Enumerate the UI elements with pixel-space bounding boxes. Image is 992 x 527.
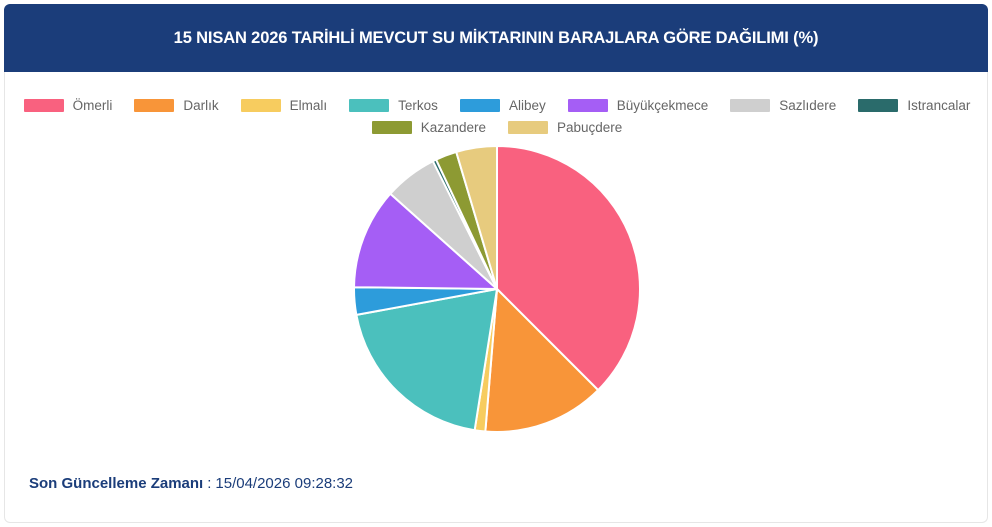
chart-legend: ÖmerliDarlıkElmalıTerkosAlibeyBüyükçekme… <box>5 98 989 135</box>
legend-item-pabu-dere[interactable]: Pabuçdere <box>508 120 622 135</box>
legend-row-2: KazanderePabuçdere <box>5 120 989 135</box>
legend-swatch-icon <box>241 99 281 112</box>
legend-item-b-y-k-ekmece[interactable]: Büyükçekmece <box>568 98 709 113</box>
last-update-value: 15/04/2026 09:28:32 <box>215 475 353 492</box>
legend-swatch-icon <box>568 99 608 112</box>
legend-item--merli[interactable]: Ömerli <box>24 98 113 113</box>
chart-area <box>5 144 989 444</box>
legend-item-label: Elmalı <box>290 98 328 113</box>
legend-swatch-icon <box>730 99 770 112</box>
chart-panel: ÖmerliDarlıkElmalıTerkosAlibeyBüyükçekme… <box>4 72 988 523</box>
page-title: 15 NISAN 2026 TARİHLİ MEVCUT SU MİKTARIN… <box>174 29 819 48</box>
legend-swatch-icon <box>858 99 898 112</box>
legend-item-label: Kazandere <box>421 120 486 135</box>
legend-item-alibey[interactable]: Alibey <box>460 98 546 113</box>
pie-chart-svg[interactable] <box>352 144 642 434</box>
legend-swatch-icon <box>134 99 174 112</box>
legend-item-label: Darlık <box>183 98 218 113</box>
dam-water-distribution-page: 15 NISAN 2026 TARİHLİ MEVCUT SU MİKTARIN… <box>0 0 992 527</box>
legend-item-label: Sazlıdere <box>779 98 836 113</box>
pie-chart <box>352 144 642 434</box>
legend-swatch-icon <box>508 121 548 134</box>
legend-item-darl-k[interactable]: Darlık <box>134 98 218 113</box>
last-update-row: Son Güncelleme Zamanı : 15/04/2026 09:28… <box>29 475 353 492</box>
legend-item-istrancalar[interactable]: Istrancalar <box>858 98 970 113</box>
legend-item-label: Büyükçekmece <box>617 98 709 113</box>
legend-item-label: Terkos <box>398 98 438 113</box>
legend-item-terkos[interactable]: Terkos <box>349 98 438 113</box>
last-update-separator: : <box>207 475 211 492</box>
legend-item-sazl-dere[interactable]: Sazlıdere <box>730 98 836 113</box>
legend-item-kazandere[interactable]: Kazandere <box>372 120 486 135</box>
legend-swatch-icon <box>372 121 412 134</box>
last-update-label: Son Güncelleme Zamanı <box>29 475 203 492</box>
legend-item-label: Alibey <box>509 98 546 113</box>
legend-item-label: Istrancalar <box>907 98 970 113</box>
page-header: 15 NISAN 2026 TARİHLİ MEVCUT SU MİKTARIN… <box>4 4 988 72</box>
legend-row-1: ÖmerliDarlıkElmalıTerkosAlibeyBüyükçekme… <box>5 98 989 113</box>
legend-swatch-icon <box>349 99 389 112</box>
legend-swatch-icon <box>24 99 64 112</box>
legend-swatch-icon <box>460 99 500 112</box>
legend-item-label: Pabuçdere <box>557 120 622 135</box>
legend-item-elmal-[interactable]: Elmalı <box>241 98 328 113</box>
legend-item-label: Ömerli <box>73 98 113 113</box>
